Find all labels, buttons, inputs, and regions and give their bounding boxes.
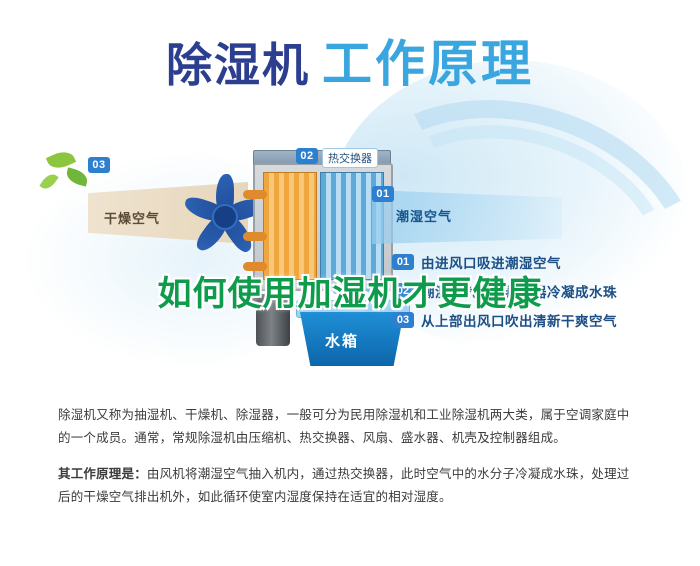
page-title-part1: 除湿机 <box>166 39 310 91</box>
humid-air-label: 潮湿空气 <box>396 206 452 225</box>
heat-exchanger-label: 热交换器 <box>322 148 378 168</box>
refrigerant-pipe <box>243 262 267 271</box>
legend-list: 01 由进风口吸进潮湿空气 02 潮湿空气经过蒸发器冷凝成水珠 03 从上部出风… <box>392 252 692 339</box>
badge-03-dry-air: 03 <box>88 157 110 173</box>
water-droplet-icon <box>332 284 339 294</box>
legend-label: 从上部出风口吹出清新干爽空气 <box>421 310 617 330</box>
legend-item: 03 从上部出风口吹出清新干爽空气 <box>392 310 692 330</box>
legend-badge: 01 <box>392 254 414 270</box>
badge-02-heat-exchanger: 02 <box>296 148 318 164</box>
refrigerant-pipe <box>243 190 267 199</box>
legend-item: 02 潮湿空气经过蒸发器冷凝成水珠 <box>392 281 692 301</box>
legend-label: 由进风口吸进潮湿空气 <box>421 252 561 272</box>
compressor <box>256 300 290 346</box>
page-title: 除湿机工作原理 <box>0 24 700 96</box>
paragraph-definition: 除湿机又称为抽湿机、干燥机、除湿器，一般可分为民用除湿机和工业除湿机两大类，属于… <box>58 404 642 450</box>
legend-item: 01 由进风口吸进潮湿空气 <box>392 252 692 272</box>
dry-air-label: 干燥空气 <box>104 208 160 227</box>
legend-badge: 02 <box>392 283 414 299</box>
water-tank-label: 水箱 <box>325 330 359 351</box>
fan-hub <box>212 204 238 230</box>
condenser-coil <box>263 172 317 280</box>
legend-label: 潮湿空气经过蒸发器冷凝成水珠 <box>421 281 617 301</box>
legend-badge: 03 <box>392 312 414 328</box>
refrigerant-pipe <box>243 232 267 241</box>
water-droplet-icon <box>350 290 357 300</box>
page-title-part2: 工作原理 <box>322 36 534 92</box>
paragraph-principle: 其工作原理是：由风机将潮湿空气抽入机内，通过热交换器，此时空气中的水分子冷凝成水… <box>58 463 642 509</box>
badge-01-humid-air: 01 <box>372 186 394 202</box>
dehumidifier-principle-illustration: 除湿机工作原理 03 干燥空气 02 热交换器 01 潮湿空气 <box>0 0 700 400</box>
article-body: 除湿机又称为抽湿机、干燥机、除湿器，一般可分为民用除湿机和工业除湿机两大类，属于… <box>0 404 700 566</box>
page-root: 除湿机工作原理 03 干燥空气 02 热交换器 01 潮湿空气 <box>0 0 700 566</box>
paragraph-principle-lead: 其工作原理是： <box>58 467 147 481</box>
